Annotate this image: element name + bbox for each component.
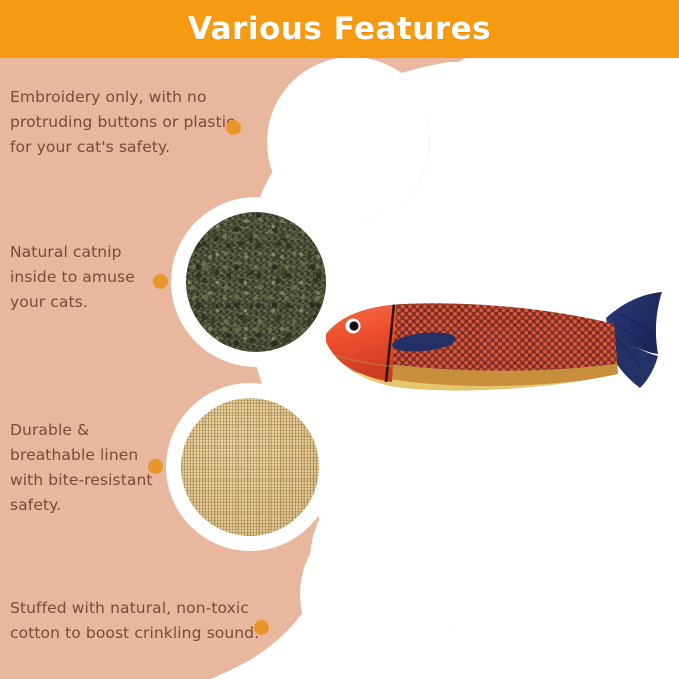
feature-line: cotton to boost crinkling sound. xyxy=(10,621,275,646)
feature-line: for your cat's safety. xyxy=(10,135,255,160)
infographic-canvas: Various Features Embroidery only, with n… xyxy=(0,0,679,679)
feature-image-linen xyxy=(173,390,327,544)
fish-shaped-cat-toy xyxy=(318,282,679,408)
feature-line: Embroidery only, with no xyxy=(10,85,255,110)
feature-line: Stuffed with natural, non-toxic xyxy=(10,596,275,621)
catnip-photo xyxy=(178,204,334,360)
feature-image-cotton xyxy=(307,516,463,672)
bullet-dot-linen xyxy=(148,459,163,474)
bullet-dot-catnip xyxy=(153,274,168,289)
product-image-fish-toy xyxy=(318,282,679,408)
header-banner: Various Features xyxy=(0,0,679,58)
page-title: Various Features xyxy=(188,11,491,47)
feature-text-cotton: Stuffed with natural, non-toxic cotton t… xyxy=(10,596,275,646)
feature-image-catnip xyxy=(178,204,334,360)
feature-line: protruding buttons or plastic xyxy=(10,110,255,135)
feature-text-embroidery: Embroidery only, with no protruding butt… xyxy=(10,85,255,160)
linen-fabric-photo xyxy=(173,390,327,544)
feature-image-fish-head xyxy=(274,64,430,220)
bullet-dot-embroidery xyxy=(226,120,241,135)
bullet-dot-cotton xyxy=(254,620,269,635)
